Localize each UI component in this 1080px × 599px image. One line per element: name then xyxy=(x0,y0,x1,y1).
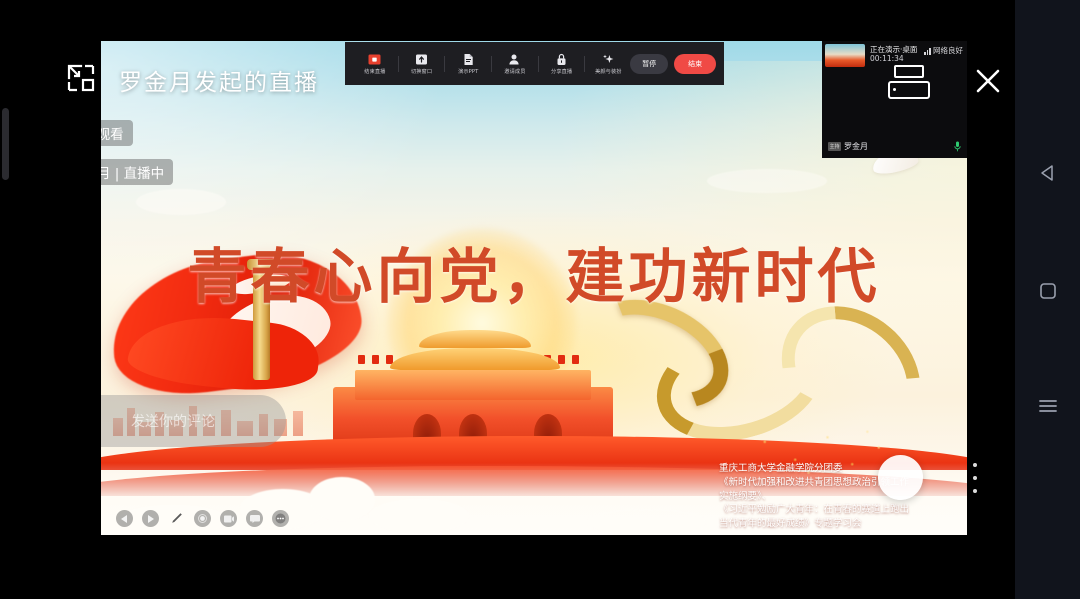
pip-network: 网络良好 xyxy=(924,45,963,56)
toolbar-label: 切换窗口 xyxy=(411,68,432,75)
home-button[interactable] xyxy=(1039,282,1057,300)
host-badge: 主持 xyxy=(828,142,841,151)
live-title: 罗金月发起的直播 xyxy=(119,63,319,97)
pip-thumbnail xyxy=(825,44,865,67)
toolbar-item-invite-member[interactable]: 邀请成员 xyxy=(493,53,537,75)
slide-footer-line: 当代青年的最好成绩》专题学习会 xyxy=(719,517,959,531)
screen-share-icon xyxy=(888,65,930,99)
slide-footer-line: 实施纲要》、 xyxy=(719,490,959,504)
recents-button[interactable] xyxy=(1038,398,1058,414)
recents-icon xyxy=(1038,398,1058,414)
slide-footer-line: 重庆工商大学金融学院分团委 xyxy=(719,462,959,476)
slide-footer-text: 重庆工商大学金融学院分团委 《新时代加强和改进共青团思想政治引领工作 实施纲要》… xyxy=(719,462,959,531)
toolbar-label: 邀请成员 xyxy=(504,68,525,75)
toolbar-item-beauty-effects[interactable]: 美颜与装扮 xyxy=(586,53,630,75)
pip-participant-name: 罗金月 xyxy=(844,141,868,152)
toolbar-item-present-ppt[interactable]: 演示PPT xyxy=(446,53,490,75)
pip-network-label: 网络良好 xyxy=(933,45,963,56)
more-menu-icon[interactable] xyxy=(971,463,979,493)
toolbar-label: 分享直播 xyxy=(551,68,572,75)
pause-live-button[interactable]: 暂停 xyxy=(630,54,668,74)
next-slide-button[interactable] xyxy=(142,510,159,527)
invite-member-icon xyxy=(508,53,521,66)
close-button[interactable] xyxy=(971,64,1005,98)
toolbar-label: 结束直播 xyxy=(364,68,385,75)
pip-status: 正在演示·桌面 xyxy=(870,45,917,54)
back-icon xyxy=(1038,163,1058,183)
pip-participant: 主持 罗金月 xyxy=(828,141,868,152)
live-toolbar: 结束直播 切换窗口 演示PPT 邀请成员 xyxy=(345,42,724,85)
viewer-count-chip: 21人观看 xyxy=(101,120,133,146)
toolbar-divider xyxy=(584,56,585,72)
pen-tool-button[interactable] xyxy=(168,510,185,527)
toolbar-label: 演示PPT xyxy=(458,68,478,75)
floating-action-button[interactable] xyxy=(878,455,923,500)
host-status-chip: 罗金月 | 直播中 xyxy=(101,159,173,185)
microphone-icon xyxy=(954,141,961,152)
back-button[interactable] xyxy=(1038,163,1058,183)
phone-navbar xyxy=(1015,0,1080,599)
screen: 青春心向党，建功新时代 重庆工商大学金融学院分团委 《新时代加强和改进共青团思想… xyxy=(0,0,1080,599)
pip-header: 正在演示·桌面 00:11:34 网络良好 xyxy=(822,41,967,67)
slide-footer-line: 《新时代加强和改进共青团思想政治引领工作 xyxy=(719,476,959,490)
toolbar-item-share-live[interactable]: 分享直播 xyxy=(540,53,584,75)
pip-timer: 00:11:34 xyxy=(870,54,917,63)
toolbar-divider xyxy=(398,56,399,72)
slide-title: 青春心向党，建功新时代 xyxy=(101,229,967,314)
slide-view-button[interactable] xyxy=(220,510,237,527)
pip-meta: 正在演示·桌面 00:11:34 xyxy=(870,45,917,64)
switch-window-icon xyxy=(415,53,428,66)
end-live-button[interactable]: 结束 xyxy=(674,54,716,74)
beauty-effects-icon xyxy=(602,53,615,66)
close-icon xyxy=(975,68,1001,94)
stop-live-icon xyxy=(368,53,381,66)
toolbar-divider xyxy=(538,56,539,72)
ppt-control-bar xyxy=(116,510,289,527)
toolbar-label: 美颜与装扮 xyxy=(595,68,621,75)
comment-input[interactable]: 发送你的评论 xyxy=(101,395,286,447)
toolbar-divider xyxy=(444,56,445,72)
minimize-to-pip-icon[interactable] xyxy=(66,63,96,93)
scrollbar-nub[interactable] xyxy=(2,108,9,180)
toolbar-divider xyxy=(491,56,492,72)
prev-slide-button[interactable] xyxy=(116,510,133,527)
more-options-button[interactable] xyxy=(272,510,289,527)
laser-pointer-button[interactable] xyxy=(194,510,211,527)
share-live-icon xyxy=(555,53,568,66)
slide-footer-line: 《习近平勉励广大青年：在青春的赛道上跑出 xyxy=(719,503,959,517)
notes-button[interactable] xyxy=(246,510,263,527)
signal-bars-icon xyxy=(924,47,931,55)
home-icon xyxy=(1039,282,1057,300)
toolbar-item-end-live[interactable]: 结束直播 xyxy=(353,53,397,75)
pip-meeting-window[interactable]: 正在演示·桌面 00:11:34 网络良好 主持 罗金月 xyxy=(822,41,967,158)
present-ppt-icon xyxy=(462,53,475,66)
toolbar-item-switch-window[interactable]: 切换窗口 xyxy=(400,53,444,75)
